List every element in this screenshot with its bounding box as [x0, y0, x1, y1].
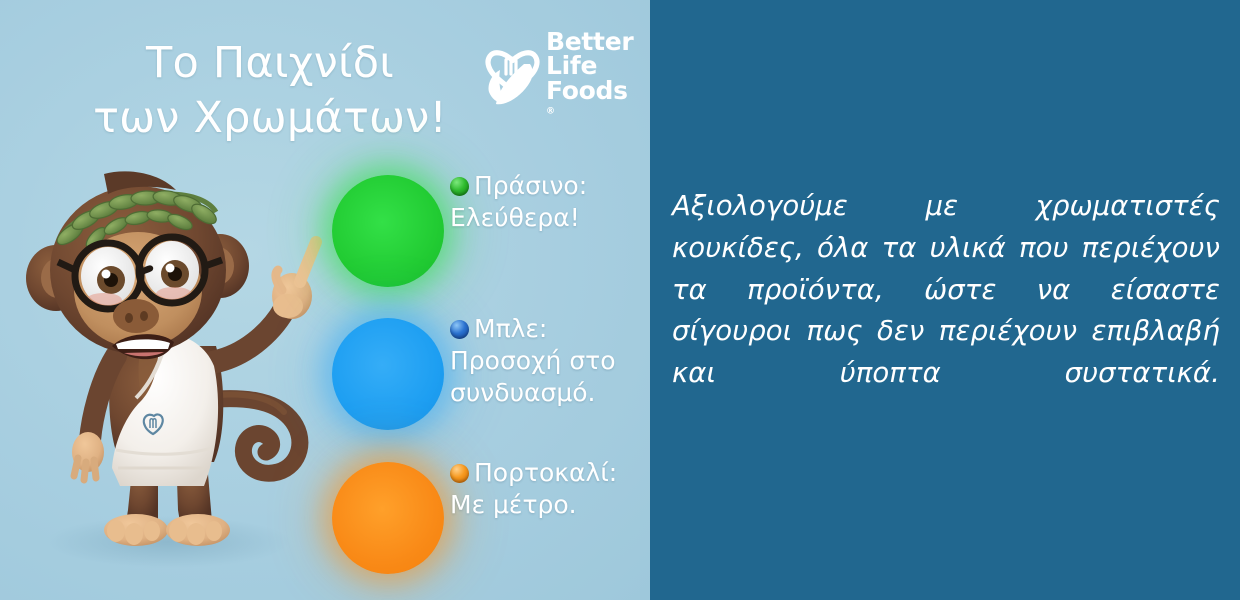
legend-row-blue[interactable]: Μπλε: Προσοχή στο συνδυασμό.	[330, 313, 650, 443]
blue-bullet-icon	[450, 320, 469, 339]
legend-rest-blue: Προσοχή στο συνδυασμό.	[450, 345, 650, 409]
mascot-shadow	[46, 516, 290, 568]
blue-circle[interactable]	[332, 318, 444, 430]
brand-line-2: Life	[546, 54, 633, 78]
legend-rest-green: Ελεύθερα!	[450, 202, 650, 234]
brand-line-3: Foods®	[546, 79, 633, 128]
page-title-line-2: των Χρωμάτων!	[60, 91, 480, 146]
legend-text-blue: Μπλε: Προσοχή στο συνδυασμό.	[450, 313, 650, 409]
legend-row-orange[interactable]: Πορτοκαλί: Με μέτρο.	[330, 457, 650, 587]
orange-bullet-icon	[450, 464, 469, 483]
right-panel: Αξιολογούμε με χρωματιστές κουκίδες, όλα…	[650, 0, 1240, 600]
color-legend: Πράσινο: Ελεύθερα! Μπλε: Προσοχή στο συν…	[330, 170, 650, 580]
description-paragraph: Αξιολογούμε με χρωματιστές κουκίδες, όλα…	[672, 186, 1220, 437]
color-game-poster: Το Παιχνίδι των Χρωμάτων! Better Life Fo…	[0, 0, 1240, 600]
brand-logo: Better Life Foods®	[484, 28, 634, 110]
monkey-mascot-image	[8, 150, 338, 580]
legend-text-orange: Πορτοκαλί: Με μέτρο.	[450, 457, 650, 521]
monkey-left-arm	[72, 356, 116, 480]
legend-lead-green: Πράσινο:	[450, 170, 650, 202]
brand-wordmark: Better Life Foods®	[546, 30, 633, 127]
heart-ribbon-logo-icon	[484, 30, 540, 108]
green-circle[interactable]	[332, 175, 444, 287]
legend-text-green: Πράσινο: Ελεύθερα!	[450, 170, 650, 234]
legend-lead-blue: Μπλε:	[450, 313, 650, 345]
registered-mark: ®	[546, 106, 555, 116]
legend-rest-orange: Με μέτρο.	[450, 489, 650, 521]
page-title: Το Παιχνίδι των Χρωμάτων!	[60, 36, 480, 146]
page-title-line-1: Το Παιχνίδι	[60, 36, 480, 91]
legend-lead-orange: Πορτοκαλί:	[450, 457, 650, 489]
pointing-finger	[300, 242, 316, 282]
legend-row-green[interactable]: Πράσινο: Ελεύθερα!	[330, 170, 650, 300]
green-bullet-icon	[450, 177, 469, 196]
orange-circle[interactable]	[332, 462, 444, 574]
